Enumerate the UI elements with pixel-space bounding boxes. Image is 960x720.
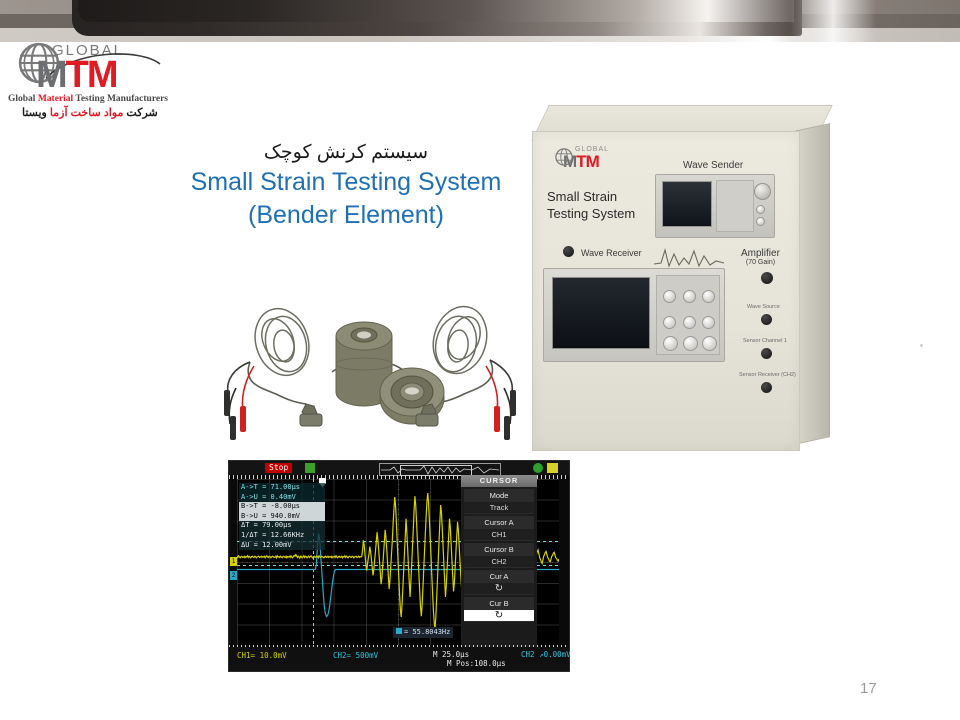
instrument-panel-title-line2: Testing System <box>547 205 635 222</box>
tagline-fa-part2: مواد ساخت آزما <box>50 107 123 119</box>
measurement-a-to-t: A->T = 71.00µs <box>239 483 325 493</box>
banner-dark-tab-inner <box>78 0 794 22</box>
menu-item-cur-b[interactable]: Cur B ↻ <box>464 597 534 622</box>
connector-jack-3[interactable] <box>761 382 772 393</box>
menu-item-mode[interactable]: Mode Track <box>464 489 534 514</box>
scope-top-status-bar: Stop <box>229 461 569 475</box>
scope-knob-position-2[interactable] <box>683 316 696 329</box>
label-amplifier-main: Amplifier <box>741 248 780 259</box>
tagline-en-part2: Material <box>38 94 73 104</box>
connector-label-3: Sensor Receiver (CH2) <box>739 372 796 378</box>
instrument-brand-logo: GLOBAL MTM <box>549 146 609 170</box>
waveform-emblem-icon <box>653 244 725 270</box>
rotary-knob-icon-a: ↻ <box>464 583 534 594</box>
logo-letter-t: T <box>66 54 87 96</box>
logo-mtm-text: MTM <box>36 56 117 94</box>
frequency-channel-icon <box>396 628 402 634</box>
amplifier-jack[interactable] <box>761 272 773 284</box>
measurement-b-to-u: B->U = 940.0mV <box>239 512 325 522</box>
scope-bnc-ch2[interactable] <box>683 336 698 351</box>
scope-knob-vertical-1[interactable] <box>663 290 676 303</box>
instrument-front-panel: GLOBAL MTM Small Strain Testing System W… <box>532 131 800 451</box>
overview-waveform-icon <box>380 464 500 475</box>
connector-label-1: Wave Source <box>747 304 780 310</box>
measurement-one-over-delta-t: 1/ΔT = 12.66KHz <box>239 531 325 541</box>
connector-jack-1[interactable] <box>761 314 772 325</box>
menu-item-cursor-b-label: Cursor B <box>484 545 514 554</box>
connector-jack-2[interactable] <box>761 348 772 359</box>
menu-item-mode-label: Mode <box>490 491 509 500</box>
label-wave-receiver: Wave Receiver <box>581 248 642 258</box>
wave-generator-display <box>662 181 712 227</box>
channel-1-ground-marker[interactable]: 1 <box>230 557 237 566</box>
scope-menu-header: CURSOR <box>461 475 537 487</box>
measurement-a-to-u: A->U = 0.40mV <box>239 493 325 503</box>
connector-label-2: Sensor Channel 1 <box>743 338 787 344</box>
instrument-globe-icon <box>555 148 573 166</box>
scope-save-icon[interactable] <box>547 463 558 473</box>
scope-knob-vertical-2[interactable] <box>683 290 696 303</box>
status-horizontal-position: M Pos:108.0µs <box>447 659 506 668</box>
instrument-panel-title-line1: Small Strain <box>547 188 635 205</box>
instrument-panel-title: Small Strain Testing System <box>547 188 635 222</box>
scope-knob-position-1[interactable] <box>663 316 676 329</box>
menu-item-cur-a-label: Cur A <box>490 572 509 581</box>
menu-item-cursor-a[interactable]: Cursor A CH1 <box>464 516 534 541</box>
company-logo: GLOBAL MTM Global Material Testing Manuf… <box>8 40 168 112</box>
slide-title: سیستم کرنش کوچک Small Strain Testing Sys… <box>168 140 524 232</box>
menu-item-cursor-a-value: CH1 <box>464 529 534 540</box>
measurement-b-to-t: B->T = -8.00µs <box>239 502 325 512</box>
tagline-en-part1: Global <box>8 94 38 104</box>
banner-highlight <box>790 0 876 42</box>
scope-bnc-ext[interactable] <box>702 336 717 351</box>
slide-top-banner <box>0 0 960 42</box>
scope-bnc-ch1[interactable] <box>663 336 678 351</box>
sensors-illustration <box>214 296 526 456</box>
title-farsi: سیستم کرنش کوچک <box>168 140 524 166</box>
oscilloscope-module-display <box>552 277 650 349</box>
logo-tagline-en: Global Material Testing Manufacturers <box>8 94 168 104</box>
title-english-line2: (Bender Element) <box>168 199 524 232</box>
wave-generator-module <box>655 174 775 238</box>
logo-letter-m2: M <box>87 54 117 96</box>
frequency-value: = 55.8043Hz <box>404 628 450 636</box>
wave-generator-keypad <box>716 180 754 232</box>
scope-knob-trigger[interactable] <box>702 316 715 329</box>
status-ch1-scale: CH1= 10.0mV <box>237 651 287 660</box>
measurement-delta-t: ΔT = 79.00µs <box>239 521 325 531</box>
menu-item-cur-a[interactable]: Cur A ↻ <box>464 570 534 595</box>
wave-receiver-jack[interactable] <box>563 246 574 257</box>
status-trigger-level: CH2 ↗0.00mV <box>521 650 571 659</box>
tagline-fa-part1: شرکت <box>123 107 157 119</box>
tagline-en-part3: Testing Manufacturers <box>73 94 168 104</box>
wave-generator-knob[interactable] <box>754 183 771 200</box>
slide-edge-marker <box>920 344 923 347</box>
scope-clock-icon <box>533 463 543 473</box>
title-english-line1: Small Strain Testing System <box>168 166 524 199</box>
label-amplifier-sub: (70 Gain) <box>741 259 780 266</box>
menu-item-cur-b-label: Cur B <box>489 599 508 608</box>
run-stop-icon[interactable] <box>305 463 315 473</box>
menu-item-cursor-a-label: Cursor A <box>484 518 513 527</box>
status-ch2-scale: CH2= 500mV <box>333 651 378 660</box>
logo-tagline-fa: شرکت مواد ساخت آزما ویستا <box>22 106 158 119</box>
oscilloscope-screenshot: Stop 1 2 A->T = 71.00µs A->U = 0.40mV B-… <box>228 460 570 672</box>
generator-small-knob-2[interactable] <box>756 217 765 226</box>
oscilloscope-module <box>543 268 725 362</box>
instrument-logo-m2: M <box>586 152 599 171</box>
cursor-measurement-box: A->T = 71.00µs A->U = 0.40mV B->T = -8.0… <box>239 483 325 550</box>
tagline-fa-part3: ویستا <box>22 107 50 119</box>
menu-item-cursor-b[interactable]: Cursor B CH2 <box>464 543 534 568</box>
channel-2-ground-marker[interactable]: 2 <box>230 571 237 580</box>
instrument-logo-t: T <box>576 152 585 171</box>
bender-element-sensors-photo <box>214 296 526 456</box>
menu-item-mode-value: Track <box>464 502 534 513</box>
label-wave-sender: Wave Sender <box>683 160 743 171</box>
instrument-photo: GLOBAL MTM Small Strain Testing System W… <box>532 105 832 450</box>
scope-bottom-status-bar: CH1= 10.0mV CH2= 500mV M 25.0µs M Pos:10… <box>229 647 569 671</box>
measurement-delta-u: ΔU = 12.00mV <box>239 541 325 551</box>
page-number: 17 <box>860 680 877 697</box>
status-timebase: M 25.0µs <box>433 650 469 659</box>
scope-status-stop: Stop <box>265 463 292 473</box>
scope-side-menu: CURSOR Mode Track Cursor A CH1 Cursor B … <box>461 475 537 661</box>
menu-item-cursor-b-value: CH2 <box>464 556 534 567</box>
logo-letter-m1: M <box>36 54 66 96</box>
rotary-knob-icon-b: ↻ <box>464 610 534 621</box>
scope-knob-horizontal[interactable] <box>702 290 715 303</box>
generator-small-knob-1[interactable] <box>756 205 765 214</box>
label-amplifier: Amplifier (70 Gain) <box>741 248 780 266</box>
frequency-readout: = 55.8043Hz <box>393 627 453 638</box>
oscilloscope-control-cluster <box>656 275 720 355</box>
